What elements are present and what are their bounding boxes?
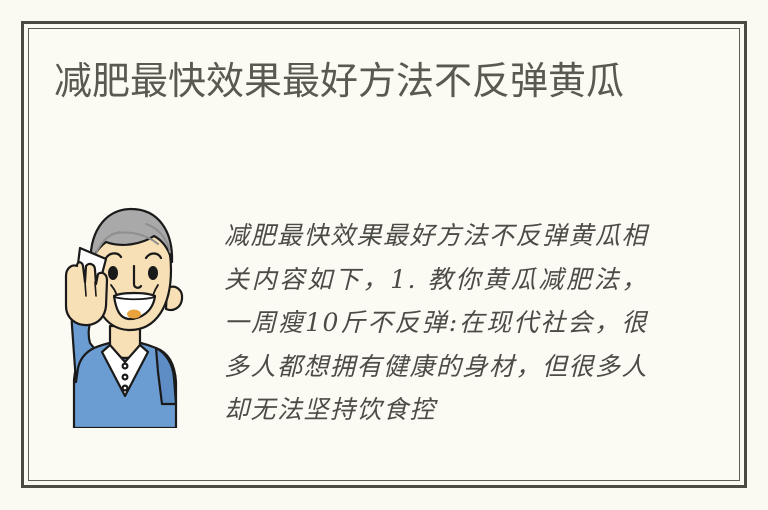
article-card: 减肥最快效果最好方法不反弹黄瓜: [28, 28, 740, 481]
page-title: 减肥最快效果最好方法不反弹黄瓜: [54, 55, 694, 109]
eye-right: [148, 266, 158, 280]
article-body: 减肥最快效果最好方法不反弹黄瓜相关内容如下，1. 教你黄瓜减肥法，一周瘦10斤不…: [224, 214, 648, 432]
eye-left: [108, 266, 118, 280]
shirt-button-2: [123, 375, 128, 380]
elderly-man-holding-phone-illustration: [50, 196, 200, 428]
tongue: [127, 310, 141, 319]
page-root: 减肥最快效果最好方法不反弹黄瓜: [0, 0, 768, 510]
finger-line-1: [85, 282, 86, 296]
finger-line-2: [95, 282, 96, 296]
shirt-button-3: [123, 386, 128, 391]
shirt-button-1: [123, 364, 128, 369]
illustration-svg: [50, 196, 200, 428]
